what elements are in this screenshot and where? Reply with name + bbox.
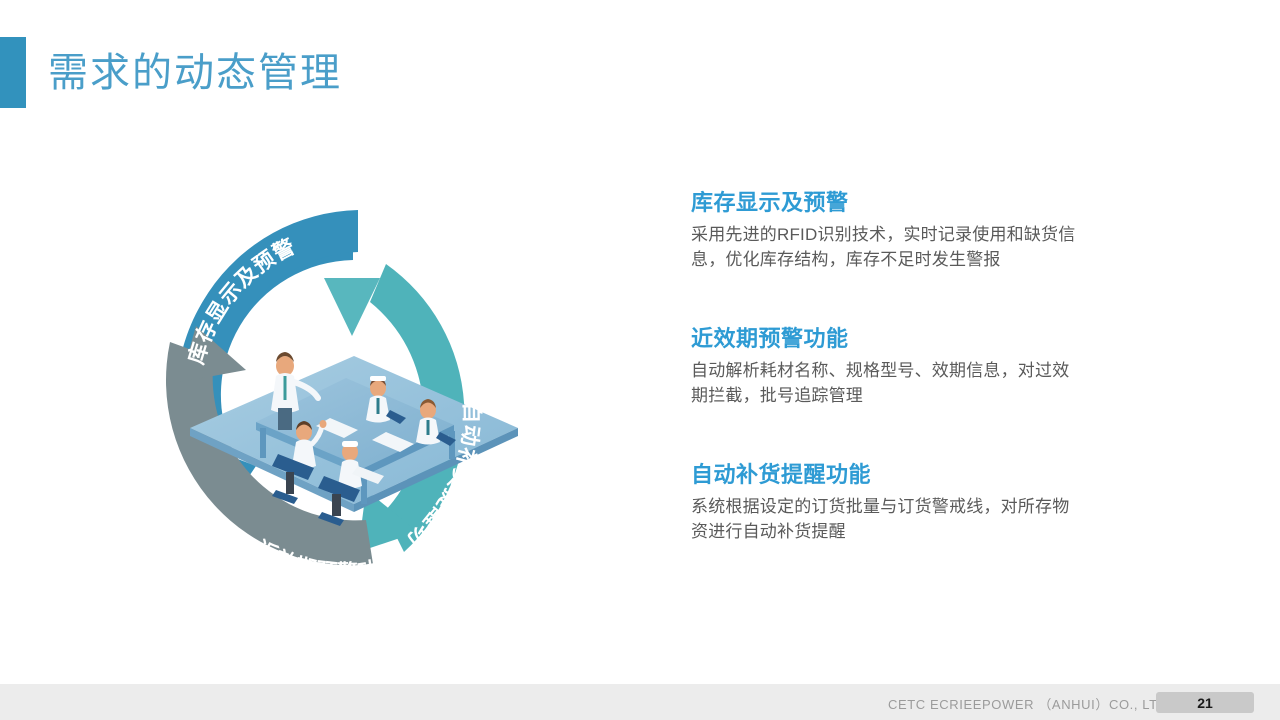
page-title: 需求的动态管理 (48, 44, 342, 102)
feature-heading: 库存显示及预警 (691, 188, 1161, 218)
feature-item-expiry: 近效期预警功能 自动解析耗材名称、规格型号、效期信息，对过效期拦截，批号追踪管理 (691, 324, 1161, 408)
title-accent-bar (0, 37, 26, 108)
footer-company-name: CETC ECRIEEPOWER （ANHUI）CO., LTD (888, 694, 1168, 713)
feature-body: 系统根据设定的订货批量与订货警戒线，对所存物资进行自动补货提醒 (691, 494, 1081, 544)
wedge-teal (324, 278, 380, 336)
feature-list: 库存显示及预警 采用先进的RFID识别技术，实时记录使用和缺货信息，优化库存结构… (691, 188, 1161, 544)
feature-body: 自动解析耗材名称、规格型号、效期信息，对过效期拦截，批号追踪管理 (691, 358, 1081, 408)
page-number: 21 (1156, 692, 1254, 713)
feature-item-inventory: 库存显示及预警 采用先进的RFID识别技术，实时记录使用和缺货信息，优化库存结构… (691, 188, 1161, 272)
cycle-diagram: 库存显示及预警 自动补货提醒功能 近效期预警功能 (118, 160, 588, 610)
feature-heading: 近效期预警功能 (691, 324, 1161, 354)
feature-heading: 自动补货提醒功能 (691, 460, 1161, 490)
feature-body: 采用先进的RFID识别技术，实时记录使用和缺货信息，优化库存结构，库存不足时发生… (691, 222, 1081, 272)
feature-item-replenishment: 自动补货提醒功能 系统根据设定的订货批量与订货警戒线，对所存物资进行自动补货提醒 (691, 460, 1161, 544)
